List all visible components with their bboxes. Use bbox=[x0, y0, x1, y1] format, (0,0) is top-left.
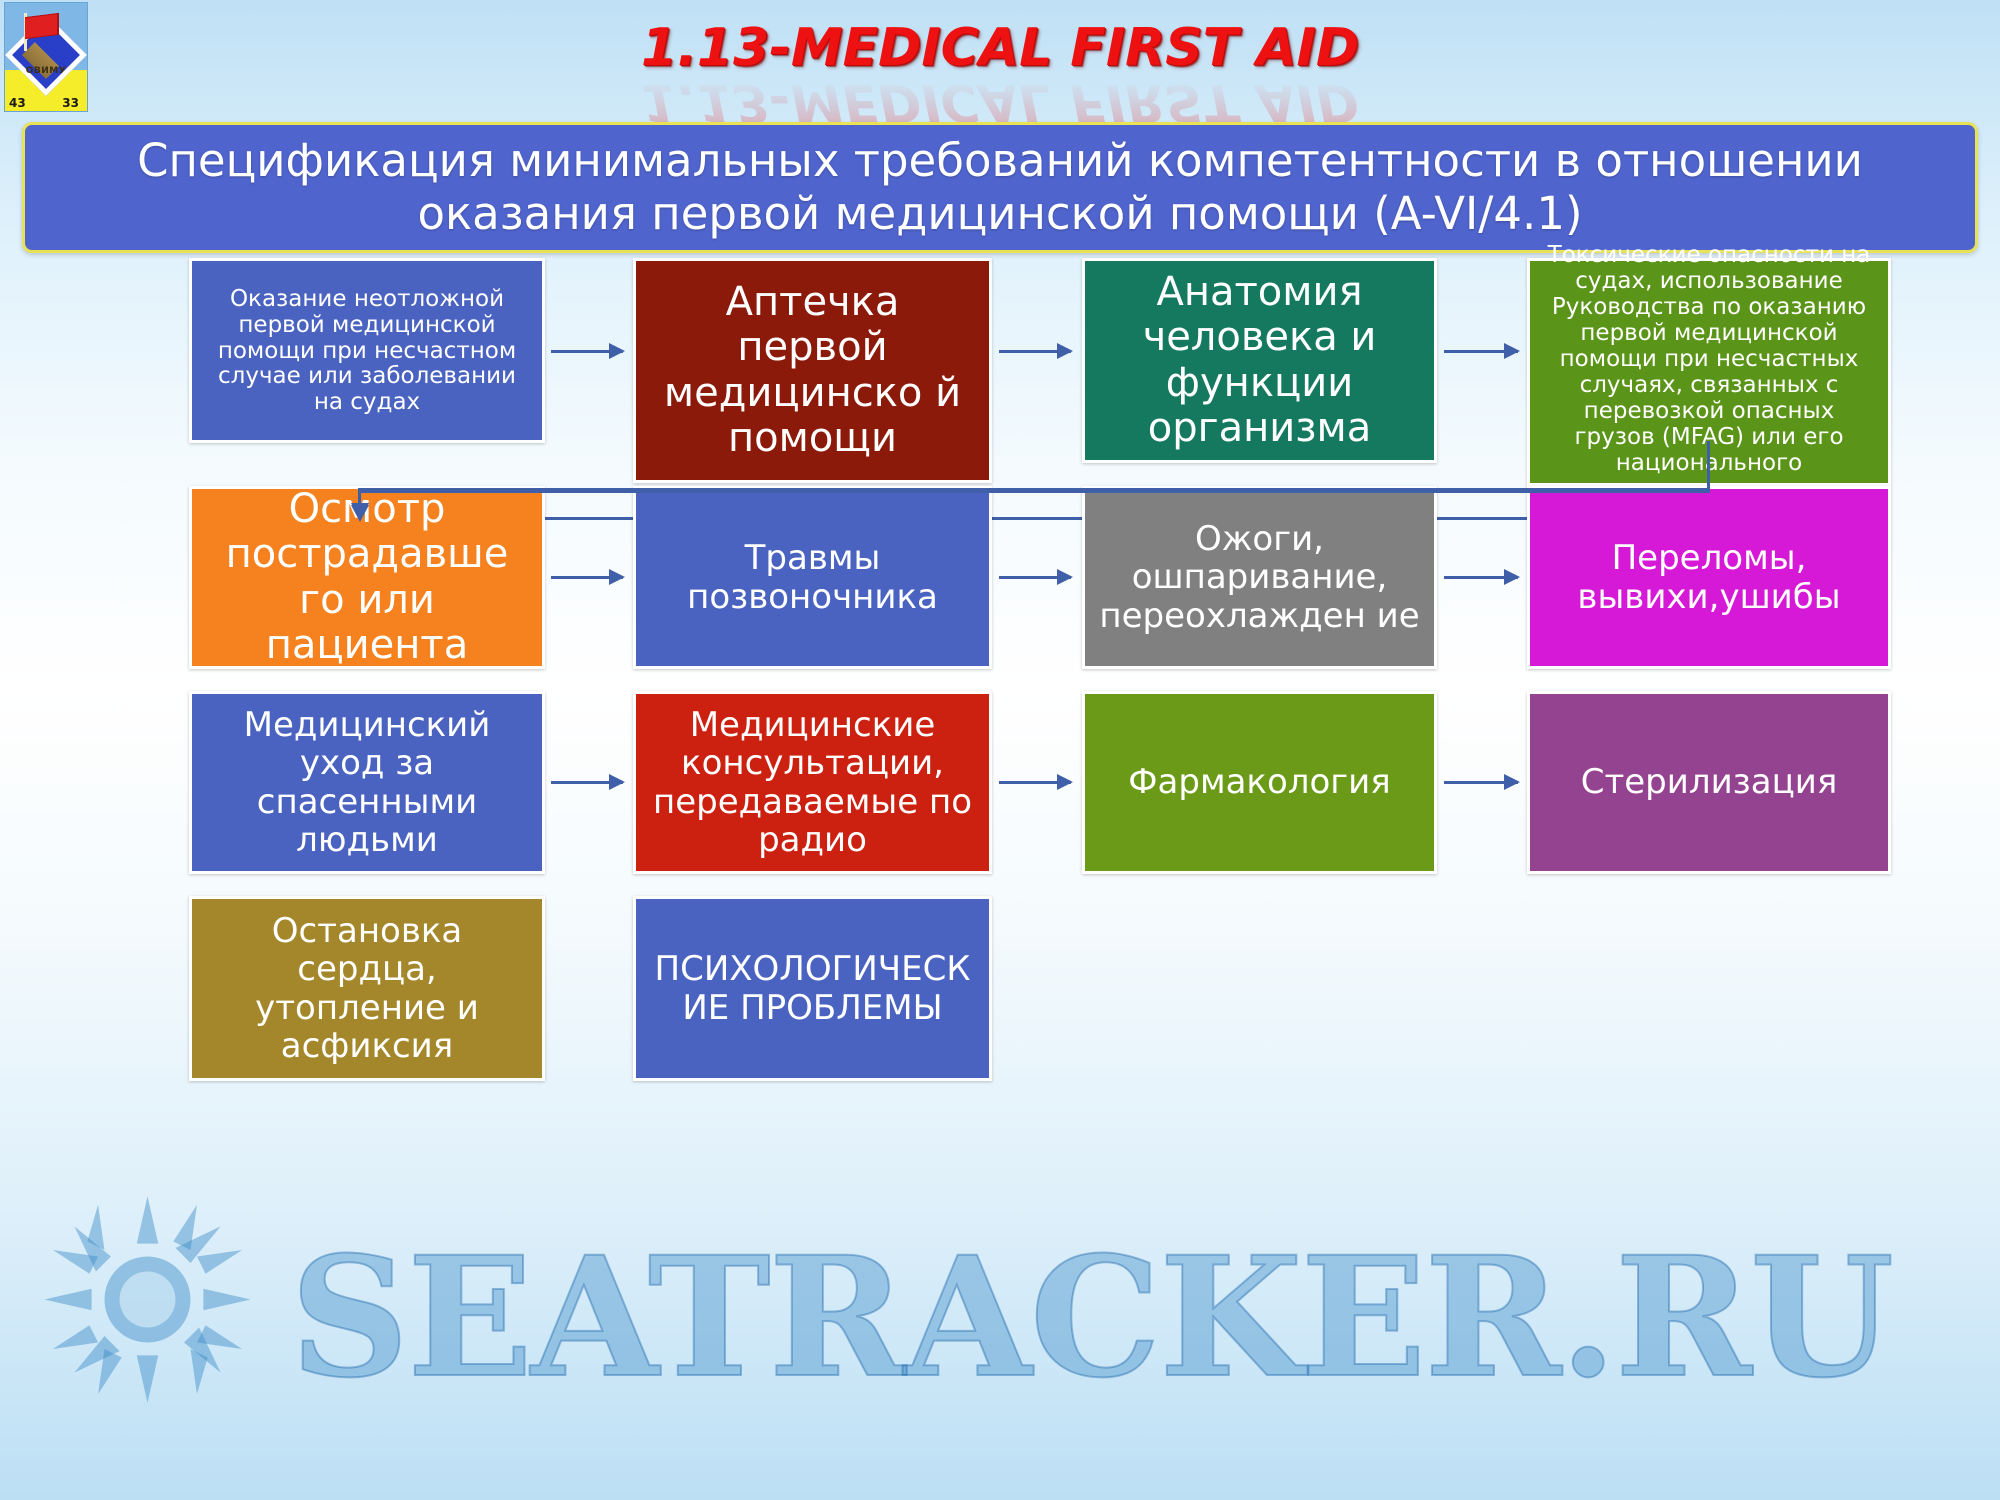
flow-row-3: Медицинский уход за спасенными людьми Ме… bbox=[0, 691, 2000, 896]
flow-node-label: Осмотр пострадавше го или пациента bbox=[202, 487, 532, 668]
flow-node-label: Медицинские консультации, передаваемые п… bbox=[646, 706, 979, 860]
flow-row-2: Осмотр пострадавше го или пациента Травм… bbox=[0, 486, 2000, 691]
flow-node-label: Аптечка первой медицинско й помощи bbox=[646, 280, 979, 461]
flow-row-4: Остановка сердца, утопление и асфиксия П… bbox=[0, 896, 2000, 1086]
watermark-text: SEATRACKER.RU bbox=[290, 1220, 1892, 1414]
flow-node-label: Токсические опасности на судах, использо… bbox=[1540, 242, 1878, 502]
title-banner: Спецификация минимальных требований комп… bbox=[22, 122, 1978, 253]
logo-number-left: 43 bbox=[9, 96, 26, 110]
flow-node-n1[interactable]: Оказание неотложной первой медицинской п… bbox=[189, 258, 545, 443]
flow-node-n8[interactable]: Переломы, вывихи,ушибы bbox=[1527, 486, 1891, 669]
flow-node-label: ПСИХОЛОГИЧЕСК ИЕ ПРОБЛЕМЫ bbox=[646, 950, 979, 1027]
flow-node-n2[interactable]: Аптечка первой медицинско й помощи bbox=[633, 258, 992, 483]
arrow-n11-n12 bbox=[1444, 781, 1518, 784]
flow-node-n10[interactable]: Медицинские консультации, передаваемые п… bbox=[633, 691, 992, 874]
flow-node-label: Анатомия человека и функции организма bbox=[1095, 270, 1424, 451]
flow-node-n11[interactable]: Фармакология bbox=[1082, 691, 1437, 874]
flow-node-n7[interactable]: Ожоги, ошпаривание, переохлажден ие bbox=[1082, 486, 1437, 669]
flow-node-n5[interactable]: Осмотр пострадавше го или пациента bbox=[189, 486, 545, 669]
flow-node-n9[interactable]: Медицинский уход за спасенными людьми bbox=[189, 691, 545, 874]
arrow-n2-n3 bbox=[999, 350, 1071, 353]
flow-node-n12[interactable]: Стерилизация bbox=[1527, 691, 1891, 874]
arrow-n9-n10 bbox=[551, 781, 623, 784]
banner-title-text: Спецификация минимальных требований комп… bbox=[25, 135, 1975, 240]
logo-flag-icon bbox=[25, 13, 59, 39]
institution-logo: ОВИМУ 43 33 bbox=[4, 2, 88, 112]
arrow-n7-n8 bbox=[1444, 576, 1518, 579]
flow-node-label: Стерилизация bbox=[1540, 763, 1878, 801]
logo-number-right: 33 bbox=[62, 96, 79, 110]
flow-node-label: Остановка сердца, утопление и асфиксия bbox=[202, 912, 532, 1066]
slide-canvas: ОВИМУ 43 33 1.13-MEDICAL FIRST AID 1.13-… bbox=[0, 0, 2000, 1500]
flow-node-label: Травмы позвоночника bbox=[646, 539, 979, 616]
watermark: SEATRACKER.RU bbox=[0, 1170, 2000, 1500]
flow-node-label: Оказание неотложной первой медицинской п… bbox=[202, 286, 532, 416]
slide-headline: 1.13-MEDICAL FIRST AID bbox=[0, 22, 2000, 74]
flow-node-n6[interactable]: Травмы позвоночника bbox=[633, 486, 992, 669]
slide-headline-reflection: 1.13-MEDICAL FIRST AID bbox=[0, 76, 2000, 128]
flow-node-n13[interactable]: Остановка сердца, утопление и асфиксия bbox=[189, 896, 545, 1081]
flow-node-label: Фармакология bbox=[1095, 763, 1424, 801]
flow-node-label: Ожоги, ошпаривание, переохлажден ие bbox=[1095, 520, 1424, 635]
flow-node-n3[interactable]: Анатомия человека и функции организма bbox=[1082, 258, 1437, 463]
logo-abbreviation: ОВИМУ bbox=[5, 66, 87, 76]
arrow-n10-n11 bbox=[999, 781, 1071, 784]
arrow-n1-n2 bbox=[551, 350, 623, 353]
flow-node-label: Медицинский уход за спасенными людьми bbox=[202, 706, 532, 860]
arrow-n5-n6 bbox=[551, 576, 623, 579]
flow-node-n14[interactable]: ПСИХОЛОГИЧЕСК ИЕ ПРОБЛЕМЫ bbox=[633, 896, 992, 1081]
banner-line-1: Спецификация минимальных требований комп… bbox=[137, 134, 1581, 187]
flow-node-n4[interactable]: Токсические опасности на судах, использо… bbox=[1527, 258, 1891, 486]
flow-node-label: Переломы, вывихи,ушибы bbox=[1540, 539, 1878, 616]
arrow-n3-n4 bbox=[1444, 350, 1518, 353]
headline-block: 1.13-MEDICAL FIRST AID 1.13-MEDICAL FIRS… bbox=[0, 22, 2000, 118]
arrow-n6-n7 bbox=[999, 576, 1071, 579]
flow-row-1: Оказание неотложной первой медицинской п… bbox=[0, 258, 2000, 486]
sun-burst-icon bbox=[40, 1192, 255, 1407]
flowchart: Оказание неотложной первой медицинской п… bbox=[0, 258, 2000, 1086]
